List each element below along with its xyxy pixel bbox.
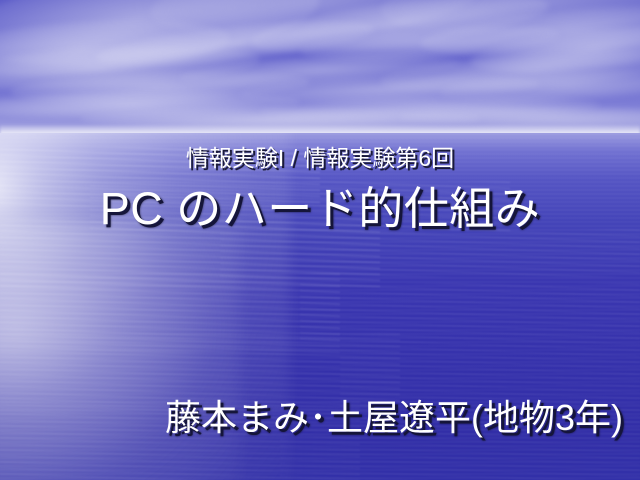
slide-author: 藤本まみ･土屋遼平(地物3年) [165,396,623,440]
slide-subtitle: 情報実験I / 情報実験第6回 [0,144,640,173]
title-slide: 情報実験I / 情報実験第6回 PC のハード的仕組み 藤本まみ･土屋遼平(地物… [0,0,640,480]
slide-title: PC のハード的仕組み [0,181,640,237]
slide-text-layer: 情報実験I / 情報実験第6回 PC のハード的仕組み 藤本まみ･土屋遼平(地物… [0,0,640,480]
